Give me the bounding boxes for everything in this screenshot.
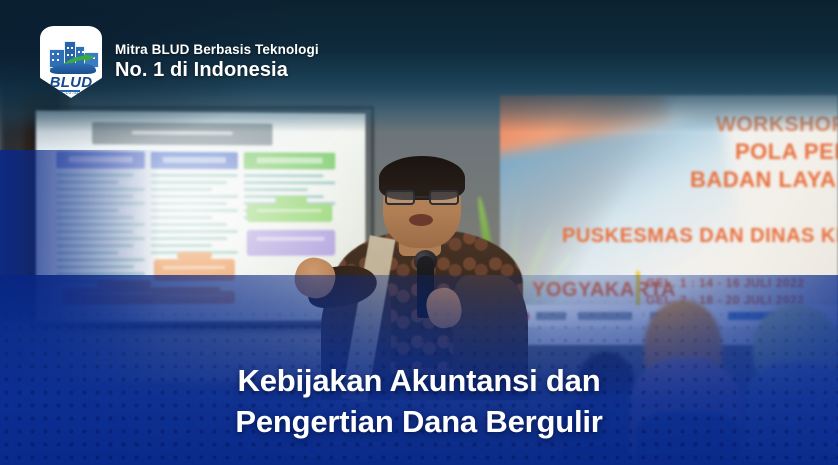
blud-logo-domain: .co.id [44,90,98,96]
brand-tagline: Mitra BLUD Berbasis Teknologi No. 1 di I… [115,42,319,82]
blud-logo-wordmark: BLUD [44,74,98,91]
banner-line-pola: POLA PENGE [735,139,838,165]
title-line-1: Kebijakan Akuntansi dan [40,360,798,402]
blud-logo-icon: BLUD .co.id [40,26,102,98]
brand-tagline-line1: Mitra BLUD Berbasis Teknologi [115,42,319,57]
banner-line-workshop: WORKSHOP [716,113,838,137]
video-title: Kebijakan Akuntansi dan Pengertian Dana … [0,360,838,443]
video-thumbnail: WORKSHOP POLA PENGE BADAN LAYANAN PUSKES… [0,0,838,465]
brand-header: BLUD .co.id Mitra BLUD Berbasis Teknolog… [40,26,319,98]
wave-icon [50,63,96,74]
banner-line-puskesmas: PUSKESMAS DAN DINAS KESE [562,225,838,248]
brand-tagline-line2: No. 1 di Indonesia [115,59,319,81]
title-line-2: Pengertian Dana Bergulir [40,401,798,443]
banner-line-badan: BADAN LAYANAN [690,167,838,193]
speaker-glasses [385,190,459,205]
banner-batch-1: GEL. 1 : 14 - 16 JULI 2022 [646,276,804,290]
